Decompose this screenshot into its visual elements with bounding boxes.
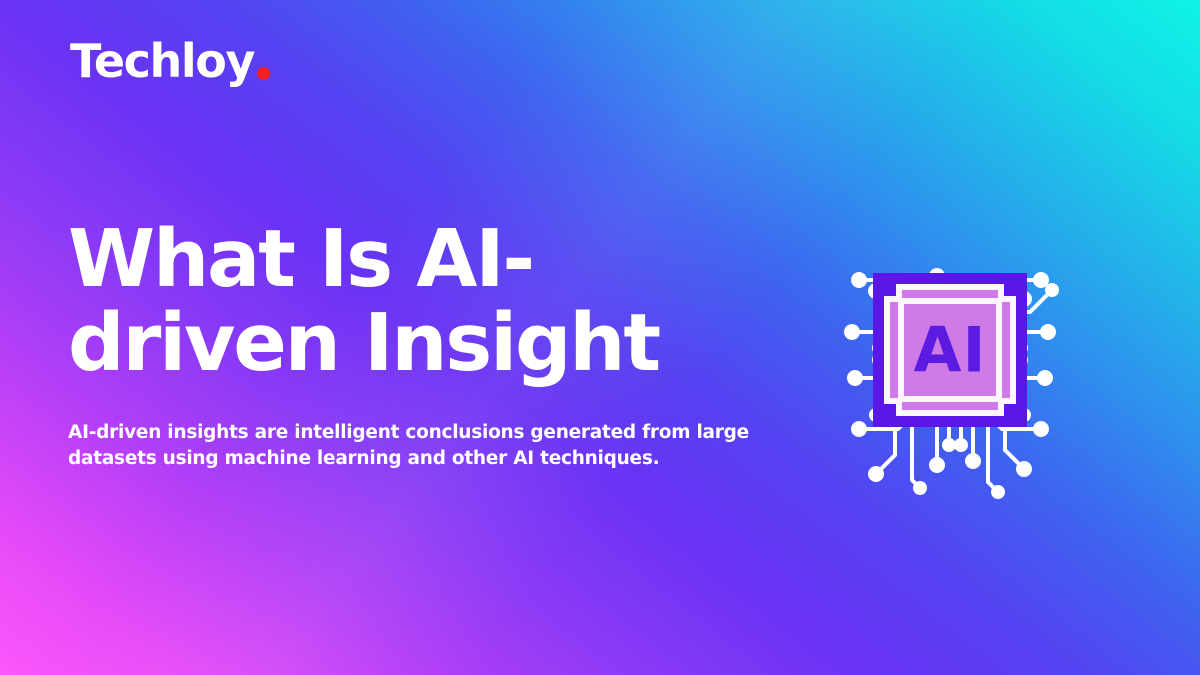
brand-logo-dot-icon <box>257 67 270 80</box>
brand-logo[interactable]: Techloy <box>70 38 270 84</box>
page-title-line-2: driven Insight <box>68 302 688 386</box>
brand-logo-text: Techloy <box>70 38 254 84</box>
page-subtitle: AI-driven insights are intelligent concl… <box>68 420 758 473</box>
page-title-line-1: What Is AI- <box>68 213 533 305</box>
ai-chip-illustration: AI <box>800 200 1100 500</box>
page-title: What Is AI- driven Insight <box>68 218 688 385</box>
chip-ai-label: AI <box>913 314 986 387</box>
